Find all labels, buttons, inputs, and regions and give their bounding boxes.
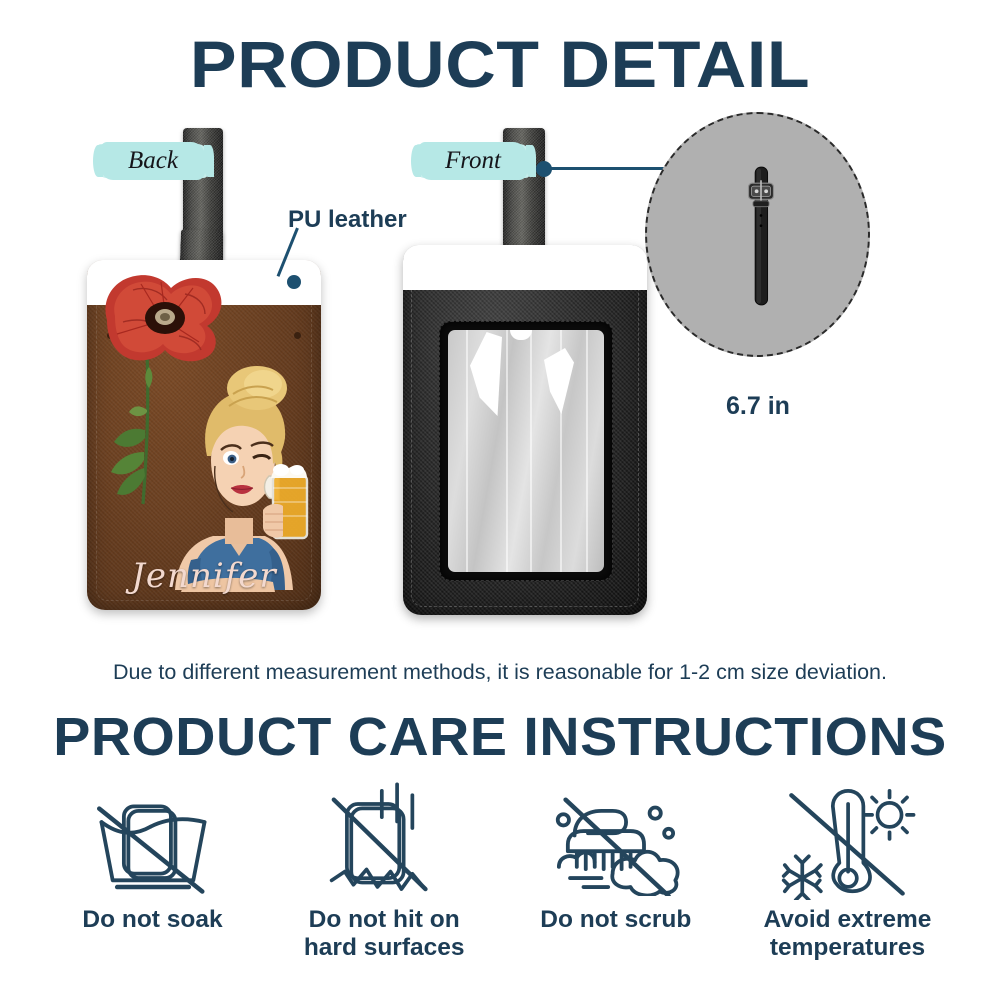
strap-length-caption: 6.7 in	[648, 392, 868, 421]
care-label-do-not-scrub: Do not scrub	[540, 906, 691, 934]
front-label-text: Front	[445, 147, 501, 175]
id-window-pane	[448, 330, 604, 572]
do-not-hit-icon	[314, 780, 454, 900]
pane-streak	[506, 330, 508, 572]
front-label-chip: Front	[419, 142, 527, 180]
front-tag-body	[403, 245, 647, 615]
do-not-soak-icon	[83, 780, 223, 900]
care-label-do-not-hit: Do not hit on hard surfaces	[304, 906, 465, 963]
avoid-temperature-icon	[772, 780, 922, 900]
care-instructions-row: Do not soak Do not hit on hard surfaces	[0, 780, 1000, 980]
do-not-scrub-icon	[541, 780, 691, 900]
id-window	[439, 321, 613, 581]
care-item-do-not-soak: Do not soak	[40, 780, 265, 980]
pane-highlight	[510, 330, 532, 340]
care-item-do-not-scrub: Do not scrub	[503, 780, 728, 980]
care-item-do-not-hit: Do not hit on hard surfaces	[272, 780, 497, 980]
strap-buckle-detail-icon	[739, 138, 783, 334]
pane-highlight	[470, 332, 502, 416]
page-title: PRODUCT DETAIL	[0, 26, 1000, 102]
back-label-chip: Back	[101, 142, 205, 180]
care-item-avoid-temperature: Avoid extreme temperatures	[735, 780, 960, 980]
pane-streak	[586, 330, 588, 572]
care-label-do-not-soak: Do not soak	[82, 906, 222, 934]
pane-streak	[530, 330, 532, 572]
care-label-avoid-temperature: Avoid extreme temperatures	[764, 906, 932, 963]
personalized-name: Jennifer	[87, 556, 321, 596]
size-deviation-disclaimer: Due to different measurement methods, it…	[0, 660, 1000, 685]
back-tag-body: Jennifer	[87, 260, 321, 610]
pu-leather-anchor-dot	[287, 275, 301, 289]
pu-leather-label: PU leather	[288, 206, 407, 234]
product-showcase: Jennifer Back PU leather	[0, 120, 1000, 650]
care-instructions-title: PRODUCT CARE INSTRUCTIONS	[0, 706, 1000, 768]
strap-detail-circle	[645, 112, 870, 357]
pane-highlight	[544, 348, 574, 414]
front-tag-unit: Front	[395, 120, 655, 630]
back-label-text: Back	[128, 147, 178, 175]
pane-streak	[466, 330, 468, 572]
back-tag-unit: Jennifer Back	[75, 120, 335, 630]
